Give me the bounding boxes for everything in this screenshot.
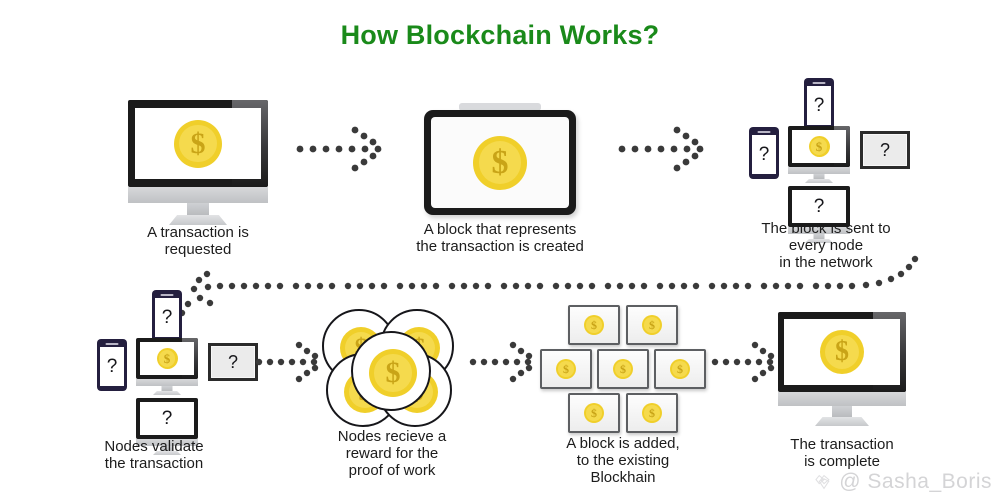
chain-block: $ — [568, 393, 620, 433]
chain-block: $ — [540, 349, 592, 389]
coin-icon: $ — [584, 403, 604, 423]
step-nodes-validate: ? ? $ — [90, 290, 260, 480]
coin-icon: $ — [584, 315, 604, 335]
coin-icon: $ — [473, 136, 527, 190]
node-phone-top: ? — [804, 78, 834, 130]
phone-speaker — [758, 131, 771, 133]
step-transaction-complete: $ The transaction is complete — [778, 312, 906, 462]
monitor-screen: $ — [140, 342, 194, 375]
monitor-foot — [805, 179, 833, 183]
monitor-screen: $ — [135, 108, 261, 179]
coin-icon: $ — [642, 315, 662, 335]
coin-icon: $ — [820, 330, 864, 374]
step-caption: The transaction is complete — [727, 436, 957, 470]
monitor-neck — [187, 203, 209, 215]
coin-icon: $ — [157, 348, 178, 369]
monitor-screen: ? — [792, 190, 846, 223]
node-phone-top: ? — [152, 290, 182, 342]
monitor-screen: $ — [792, 130, 846, 163]
page-title: How Blockchain Works? — [0, 20, 1000, 51]
dotted-arrow-right — [618, 126, 708, 172]
dotted-arrow-right — [712, 341, 782, 383]
tablet-block-icon: $ — [424, 110, 576, 215]
node-monitor-center: $ — [136, 338, 198, 394]
phone-screen: ? — [807, 86, 831, 125]
monitor-chin — [128, 187, 268, 203]
dotted-arrow-right — [470, 341, 540, 383]
infographic-canvas: How Blockchain Works? $ A transaction is… — [0, 0, 1000, 500]
monitor-screen: ? — [140, 402, 194, 435]
monitor-neck — [162, 386, 173, 391]
desktop-monitor-icon: $ — [778, 312, 906, 414]
phone-speaker — [813, 82, 826, 84]
step-caption: Nodes recieve a reward for the proof of … — [292, 428, 492, 479]
monitor-chin — [136, 379, 198, 386]
reward-bubble-front: $ — [351, 331, 431, 411]
phone-screen: ? — [100, 347, 124, 386]
monitor-neck — [814, 174, 825, 179]
chain-block: $ — [597, 349, 649, 389]
desktop-monitor-icon: $ — [128, 100, 268, 210]
phone-speaker — [106, 343, 119, 345]
step-block-sent-to-nodes: ? ? $ — [742, 78, 912, 268]
monitor-chin — [778, 392, 906, 406]
coin-icon: $ — [174, 120, 222, 168]
coin-icon: $ — [670, 359, 690, 379]
coin-icon: $ — [556, 359, 576, 379]
step-block-added-to-chain: $ $ $ — [540, 305, 710, 480]
step-caption: Nodes validate the transaction — [54, 438, 254, 472]
step-caption: A block is added, to the existing Blockh… — [518, 435, 728, 486]
node-phone-left: ? — [97, 339, 127, 391]
dotted-arrow-right — [256, 341, 326, 383]
coin-icon: $ — [613, 359, 633, 379]
watermark: @ Sasha_Boris — [814, 470, 992, 494]
diamond-gem-icon — [814, 474, 834, 490]
block-face: ? — [211, 346, 255, 378]
chain-block: $ — [568, 305, 620, 345]
coin-icon: $ — [369, 349, 417, 397]
step-transaction-requested: $ A transaction is requested — [128, 100, 268, 245]
chain-block: $ — [654, 349, 706, 389]
monitor-foot — [815, 417, 869, 426]
step-block-created: $ A block that represents the transactio… — [424, 103, 576, 248]
node-block-right: ? — [860, 131, 910, 169]
phone-screen: ? — [752, 135, 776, 174]
monitor-screen: $ — [784, 319, 900, 385]
chain-block: $ — [626, 305, 678, 345]
monitor-chin — [788, 167, 850, 174]
coin-icon: $ — [642, 403, 662, 423]
watermark-handle: @ Sasha_Boris — [839, 470, 992, 494]
block-face: $ — [431, 117, 569, 208]
monitor-neck — [832, 406, 852, 417]
node-phone-left: ? — [749, 127, 779, 179]
node-monitor-center: $ — [788, 126, 850, 182]
coin-icon: $ — [809, 136, 830, 157]
step-caption: A transaction is requested — [83, 224, 313, 258]
step-nodes-rewarded: $ $ $ $ $ — [322, 303, 468, 483]
monitor-foot — [153, 391, 181, 395]
chain-block: $ — [626, 393, 678, 433]
node-block-right: ? — [208, 343, 258, 381]
block-face: ? — [863, 134, 907, 166]
phone-screen: ? — [155, 298, 179, 337]
dotted-arrow-right — [296, 126, 386, 172]
step-caption: A block that represents the transaction … — [375, 221, 625, 255]
phone-speaker — [161, 294, 174, 296]
